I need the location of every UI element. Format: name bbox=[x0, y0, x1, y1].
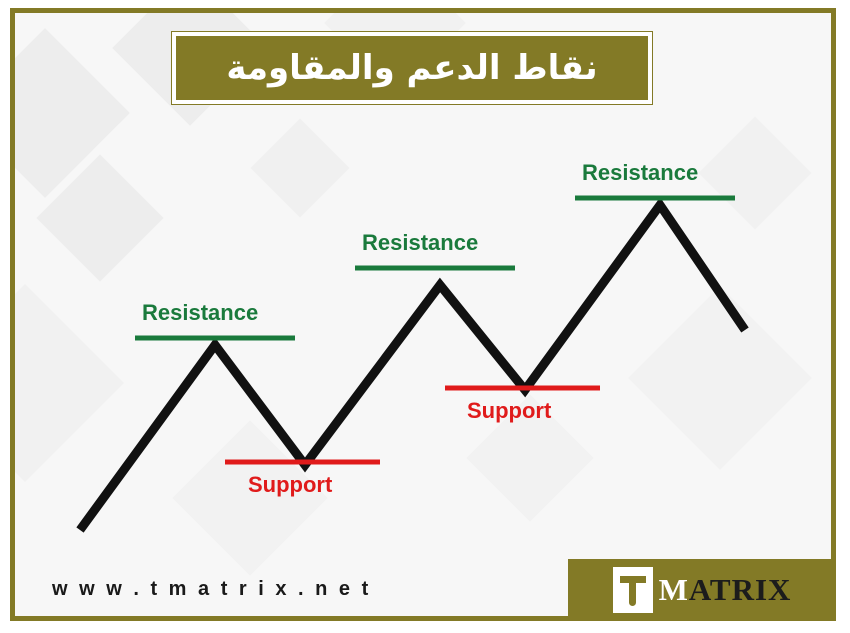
brand-name-part1: M bbox=[659, 572, 689, 608]
page-title: نقاط الدعم والمقاومة bbox=[226, 48, 597, 88]
level-label-resistance: Resistance bbox=[582, 160, 698, 186]
title-banner: نقاط الدعم والمقاومة bbox=[172, 32, 652, 104]
level-label-resistance: Resistance bbox=[362, 230, 478, 256]
chart-svg bbox=[30, 120, 820, 560]
brand-name-part2: ATRIX bbox=[689, 572, 792, 608]
level-label-support: Support bbox=[248, 472, 332, 498]
brand-wordmark: M ATRIX bbox=[659, 572, 792, 608]
website-url: w w w . t m a t r i x . n e t bbox=[52, 578, 371, 601]
level-label-resistance: Resistance bbox=[142, 300, 258, 326]
infographic-canvas: نقاط الدعم والمقاومة ResistanceSupportRe… bbox=[0, 0, 850, 633]
brand-logo: M ATRIX bbox=[568, 559, 836, 621]
support-resistance-chart: ResistanceSupportResistanceSupportResist… bbox=[30, 120, 820, 560]
t-logo-icon bbox=[613, 567, 653, 613]
level-label-support: Support bbox=[467, 398, 551, 424]
